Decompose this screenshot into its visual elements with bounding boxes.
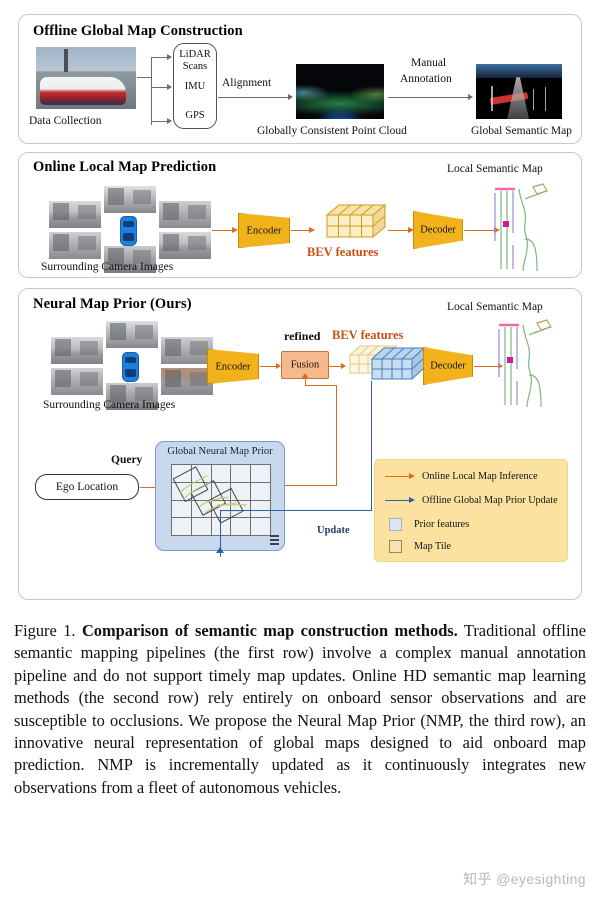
caption-number: Figure 1. — [14, 621, 76, 640]
update-horizontal — [220, 510, 372, 511]
legend-row-map-tile: Map Tile — [389, 540, 451, 553]
camera-image — [49, 201, 101, 228]
encoder-label: Encoder — [207, 361, 259, 372]
photo-data-collection-vehicle — [36, 47, 136, 109]
figure-caption: Figure 1. Comparison of semantic map con… — [14, 620, 586, 799]
map-tile — [212, 483, 231, 500]
fusion-feed-horizontal — [305, 385, 337, 386]
legend-label-online-inference: Online Local Map Inference — [422, 471, 538, 482]
map-tile — [192, 483, 211, 500]
camera-image — [161, 337, 213, 364]
map-tile — [251, 518, 270, 535]
map-tile — [172, 465, 191, 482]
caption-local-semantic-map-online: Local Semantic Map — [447, 163, 543, 175]
legend-row-offline-update: Offline Global Map Prior Update — [385, 495, 558, 506]
orange-arrow-icon — [385, 473, 415, 481]
semantic-pole — [545, 87, 547, 111]
ego-location-label: Ego Location — [36, 481, 138, 493]
prior-features-swatch-icon — [389, 518, 402, 531]
camera-image — [51, 337, 103, 364]
fusion-label: Fusion — [282, 360, 328, 371]
arrow-alignment — [218, 93, 294, 101]
camera-image — [106, 321, 158, 348]
map-tile — [192, 501, 211, 518]
caption-surrounding-cameras-online: Surrounding Camera Images — [41, 261, 173, 273]
fusion-feed-stub — [305, 379, 306, 386]
caption-body: Traditional offline semantic mapping pip… — [14, 621, 586, 797]
decoder-label: Decoder — [413, 225, 463, 236]
map-tile — [192, 465, 211, 482]
photo-point-cloud — [296, 64, 384, 119]
arrow-to-imu — [151, 83, 173, 91]
map-tile — [251, 501, 270, 518]
decoder-label: Decoder — [423, 361, 473, 372]
legend-box: Online Local Map Inference Offline Globa… — [374, 459, 568, 562]
map-tile — [172, 518, 191, 535]
local-semantic-map-online — [481, 183, 555, 273]
caption-local-semantic-map-nmp: Local Semantic Map — [447, 301, 543, 313]
caption-surrounding-cameras-nmp: Surrounding Camera Images — [43, 399, 175, 411]
panel-title-offline: Offline Global Map Construction — [33, 23, 243, 40]
decoder-block-online[interactable]: Decoder — [413, 211, 463, 249]
map-tile-grid — [171, 464, 271, 536]
arrow-bev-to-decoder — [388, 226, 414, 234]
query-label: Query — [111, 454, 142, 466]
arrow-manual-annotation — [388, 93, 474, 101]
camera-image — [104, 186, 156, 213]
local-semantic-map-nmp — [485, 319, 559, 409]
edge-label-annotation: Annotation — [400, 73, 452, 85]
sensor-label-gps: GPS — [174, 110, 216, 121]
encoder-block-online[interactable]: Encoder — [238, 213, 290, 248]
decoder-block-nmp[interactable]: Decoder — [423, 347, 473, 385]
camera-image — [51, 368, 103, 395]
ego-vehicle-icon — [122, 352, 139, 382]
arrowhead-into-prior — [216, 547, 224, 553]
map-tile-swatch-icon — [389, 540, 402, 553]
sensor-label-scans: Scans — [174, 61, 216, 72]
semantic-pole — [533, 89, 535, 110]
arrow-encoder-to-fusion — [260, 362, 282, 370]
legend-row-online-inference: Online Local Map Inference — [385, 471, 538, 482]
prior-to-fusion-horizontal — [285, 485, 337, 486]
camera-image — [161, 368, 213, 395]
prior-to-fusion-vertical — [336, 385, 337, 486]
camera-image — [159, 201, 211, 228]
blue-arrow-icon — [385, 497, 415, 505]
camera-image — [159, 232, 211, 259]
panel-neural-map-prior: Neural Map Prior (Ours) Surrounding Came… — [18, 288, 582, 600]
encoder-label: Encoder — [238, 225, 290, 236]
encoder-block-nmp[interactable]: Encoder — [207, 349, 259, 384]
legend-label-prior-features: Prior features — [414, 519, 469, 530]
map-tile — [251, 465, 270, 482]
arrow-encoder-to-bev — [291, 226, 315, 234]
edge-label-manual: Manual — [411, 57, 446, 69]
ego-vehicle-icon — [120, 216, 137, 246]
panel-title-nmp: Neural Map Prior (Ours) — [33, 296, 192, 313]
camera-image — [49, 232, 101, 259]
arrow-to-gps — [151, 117, 173, 125]
semantic-pole — [491, 86, 493, 111]
arrow-to-lidar — [151, 53, 173, 61]
update-vertical-from-bev — [371, 381, 372, 511]
sensor-branch-stem — [137, 77, 151, 78]
legend-label-map-tile: Map Tile — [414, 541, 451, 552]
semantic-red-region — [489, 92, 527, 104]
map-tile — [231, 518, 250, 535]
sensor-label-lidar: LiDAR — [174, 49, 216, 60]
panel-online-local-map-prediction: Online Local Map Prediction Surrounding … — [18, 152, 582, 278]
sensor-branch-spine — [151, 57, 152, 125]
watermark: 知乎 @eyesighting — [463, 869, 586, 889]
legend-row-prior-features: Prior features — [389, 518, 469, 531]
caption-data-collection: Data Collection — [29, 115, 102, 127]
edge-label-alignment: Alignment — [222, 77, 271, 89]
panel-offline-global-map-construction: Offline Global Map Construction Data Col… — [18, 14, 582, 144]
sensor-label-imu: IMU — [174, 81, 216, 92]
map-tile — [212, 465, 231, 482]
arrow-fusion-to-refined-bev — [329, 362, 347, 370]
legend-label-offline-update: Offline Global Map Prior Update — [422, 495, 558, 506]
prior-panel-title: Global Neural Map Prior — [156, 446, 284, 457]
arrowhead-into-fusion — [301, 373, 309, 379]
refined-prefix-label: refined — [284, 329, 320, 344]
map-layers-icon — [270, 535, 279, 546]
panel-title-online: Online Local Map Prediction — [33, 159, 216, 176]
caption-point-cloud: Globally Consistent Point Cloud — [257, 125, 407, 137]
bev-features-label-online: BEV features — [307, 245, 378, 260]
bev-features-cube — [315, 203, 387, 249]
map-tile — [251, 483, 270, 500]
map-tile — [172, 501, 191, 518]
ego-location-box[interactable]: Ego Location — [35, 474, 139, 500]
map-tile — [231, 465, 250, 482]
map-tile — [172, 483, 191, 500]
map-tile — [231, 501, 250, 518]
arrow-cameras-to-encoder — [212, 226, 238, 234]
update-label: Update — [317, 525, 350, 536]
figure-diagram: Offline Global Map Construction Data Col… — [0, 0, 600, 610]
map-tile — [231, 483, 250, 500]
caption-global-semantic-map: Global Semantic Map — [471, 125, 572, 137]
sensor-stack-box: LiDAR Scans IMU GPS — [173, 43, 217, 129]
map-tile — [192, 518, 211, 535]
caption-bold-title: Comparison of semantic map construction … — [82, 621, 458, 640]
photo-global-semantic-map — [476, 64, 562, 119]
